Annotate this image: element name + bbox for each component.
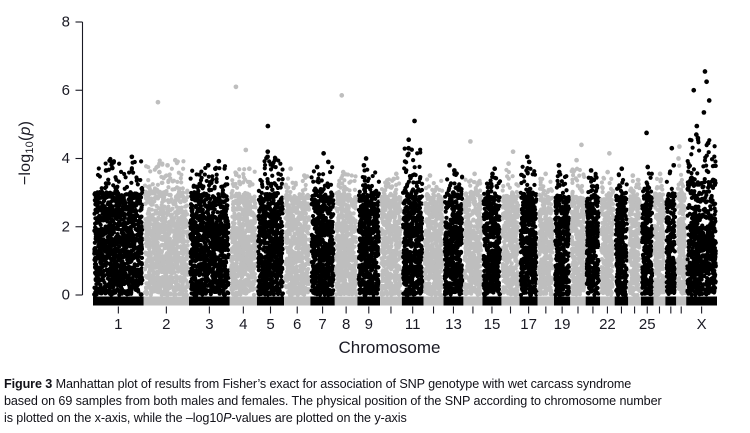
caption-figure-label: Figure 3 xyxy=(4,377,52,391)
caption-text-3b: -values are plotted on the y-axis xyxy=(231,411,406,425)
figure-caption: Figure 3 Manhattan plot of results from … xyxy=(4,376,746,427)
caption-text-1: Manhattan plot of results from Fisher’s … xyxy=(56,377,632,391)
figure-3-container: −log10(p) Chromosome Figure 3 Manhattan … xyxy=(0,0,750,433)
caption-line-1: Figure 3 Manhattan plot of results from … xyxy=(4,376,746,393)
x-axis-title: Chromosome xyxy=(62,338,717,358)
manhattan-plot-canvas xyxy=(0,0,750,372)
caption-line-2: based on 69 samples from both males and … xyxy=(4,393,746,410)
caption-line-3: is plotted on the x-axis, while the –log… xyxy=(4,410,746,427)
caption-text-3a: is plotted on the x-axis, while the –log… xyxy=(4,411,223,425)
manhattan-plot: −log10(p) Chromosome xyxy=(0,0,750,372)
